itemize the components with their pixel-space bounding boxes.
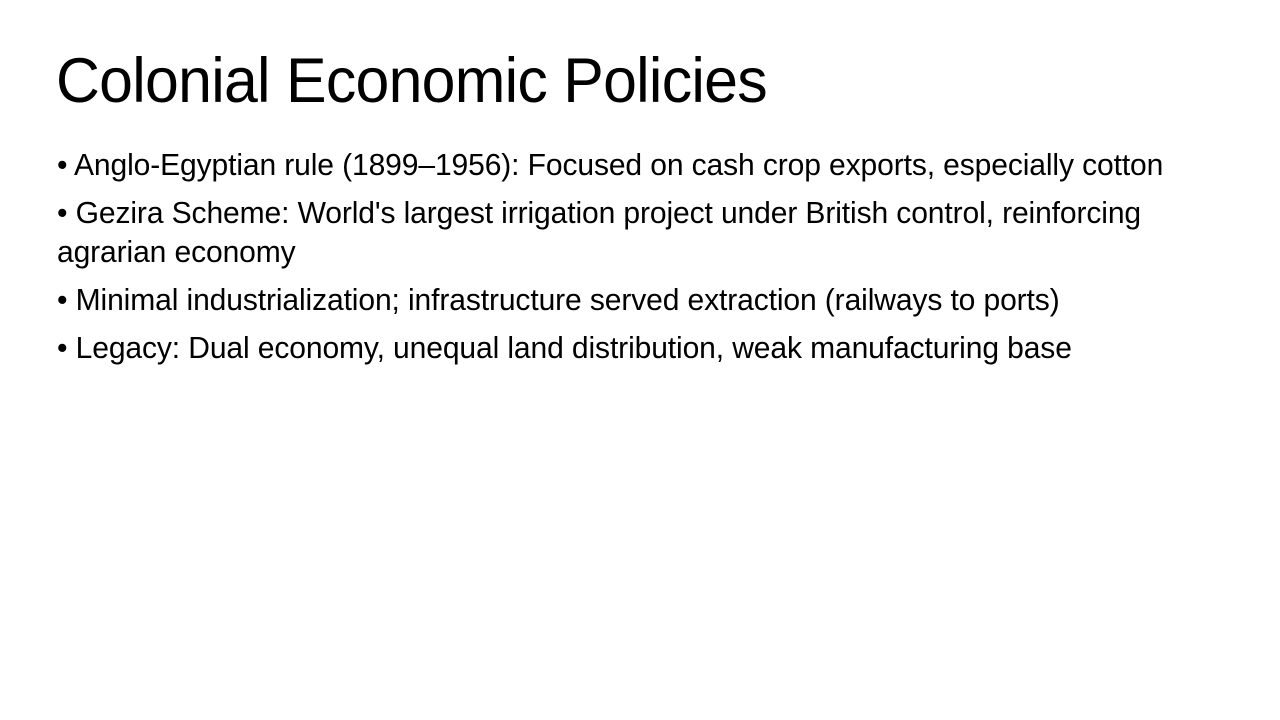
list-item: • Gezira Scheme: World's largest irrigat… xyxy=(57,194,1206,271)
list-item: • Legacy: Dual economy, unequal land dis… xyxy=(57,329,1206,368)
bullet-list: • Anglo-Egyptian rule (1899–1956): Focus… xyxy=(57,146,1223,367)
page-title: Colonial Economic Policies xyxy=(56,48,1183,115)
presentation-slide: Colonial Economic Policies • Anglo-Egypt… xyxy=(0,0,1280,720)
list-item-text: Minimal industrialization; infrastructur… xyxy=(76,283,1060,317)
bullet-point-icon: • xyxy=(57,148,74,182)
bullet-point-icon: • xyxy=(57,331,76,365)
list-item-text: Legacy: Dual economy, unequal land distr… xyxy=(76,331,1072,365)
list-item: • Minimal industrialization; infrastruct… xyxy=(57,281,1206,320)
list-item-text: Anglo-Egyptian rule (1899–1956): Focused… xyxy=(74,148,1163,182)
list-item: • Anglo-Egyptian rule (1899–1956): Focus… xyxy=(57,146,1206,185)
bullet-point-icon: • xyxy=(57,196,76,230)
list-item-text: Gezira Scheme: World's largest irrigatio… xyxy=(57,196,1141,269)
bullet-point-icon: • xyxy=(57,283,76,317)
